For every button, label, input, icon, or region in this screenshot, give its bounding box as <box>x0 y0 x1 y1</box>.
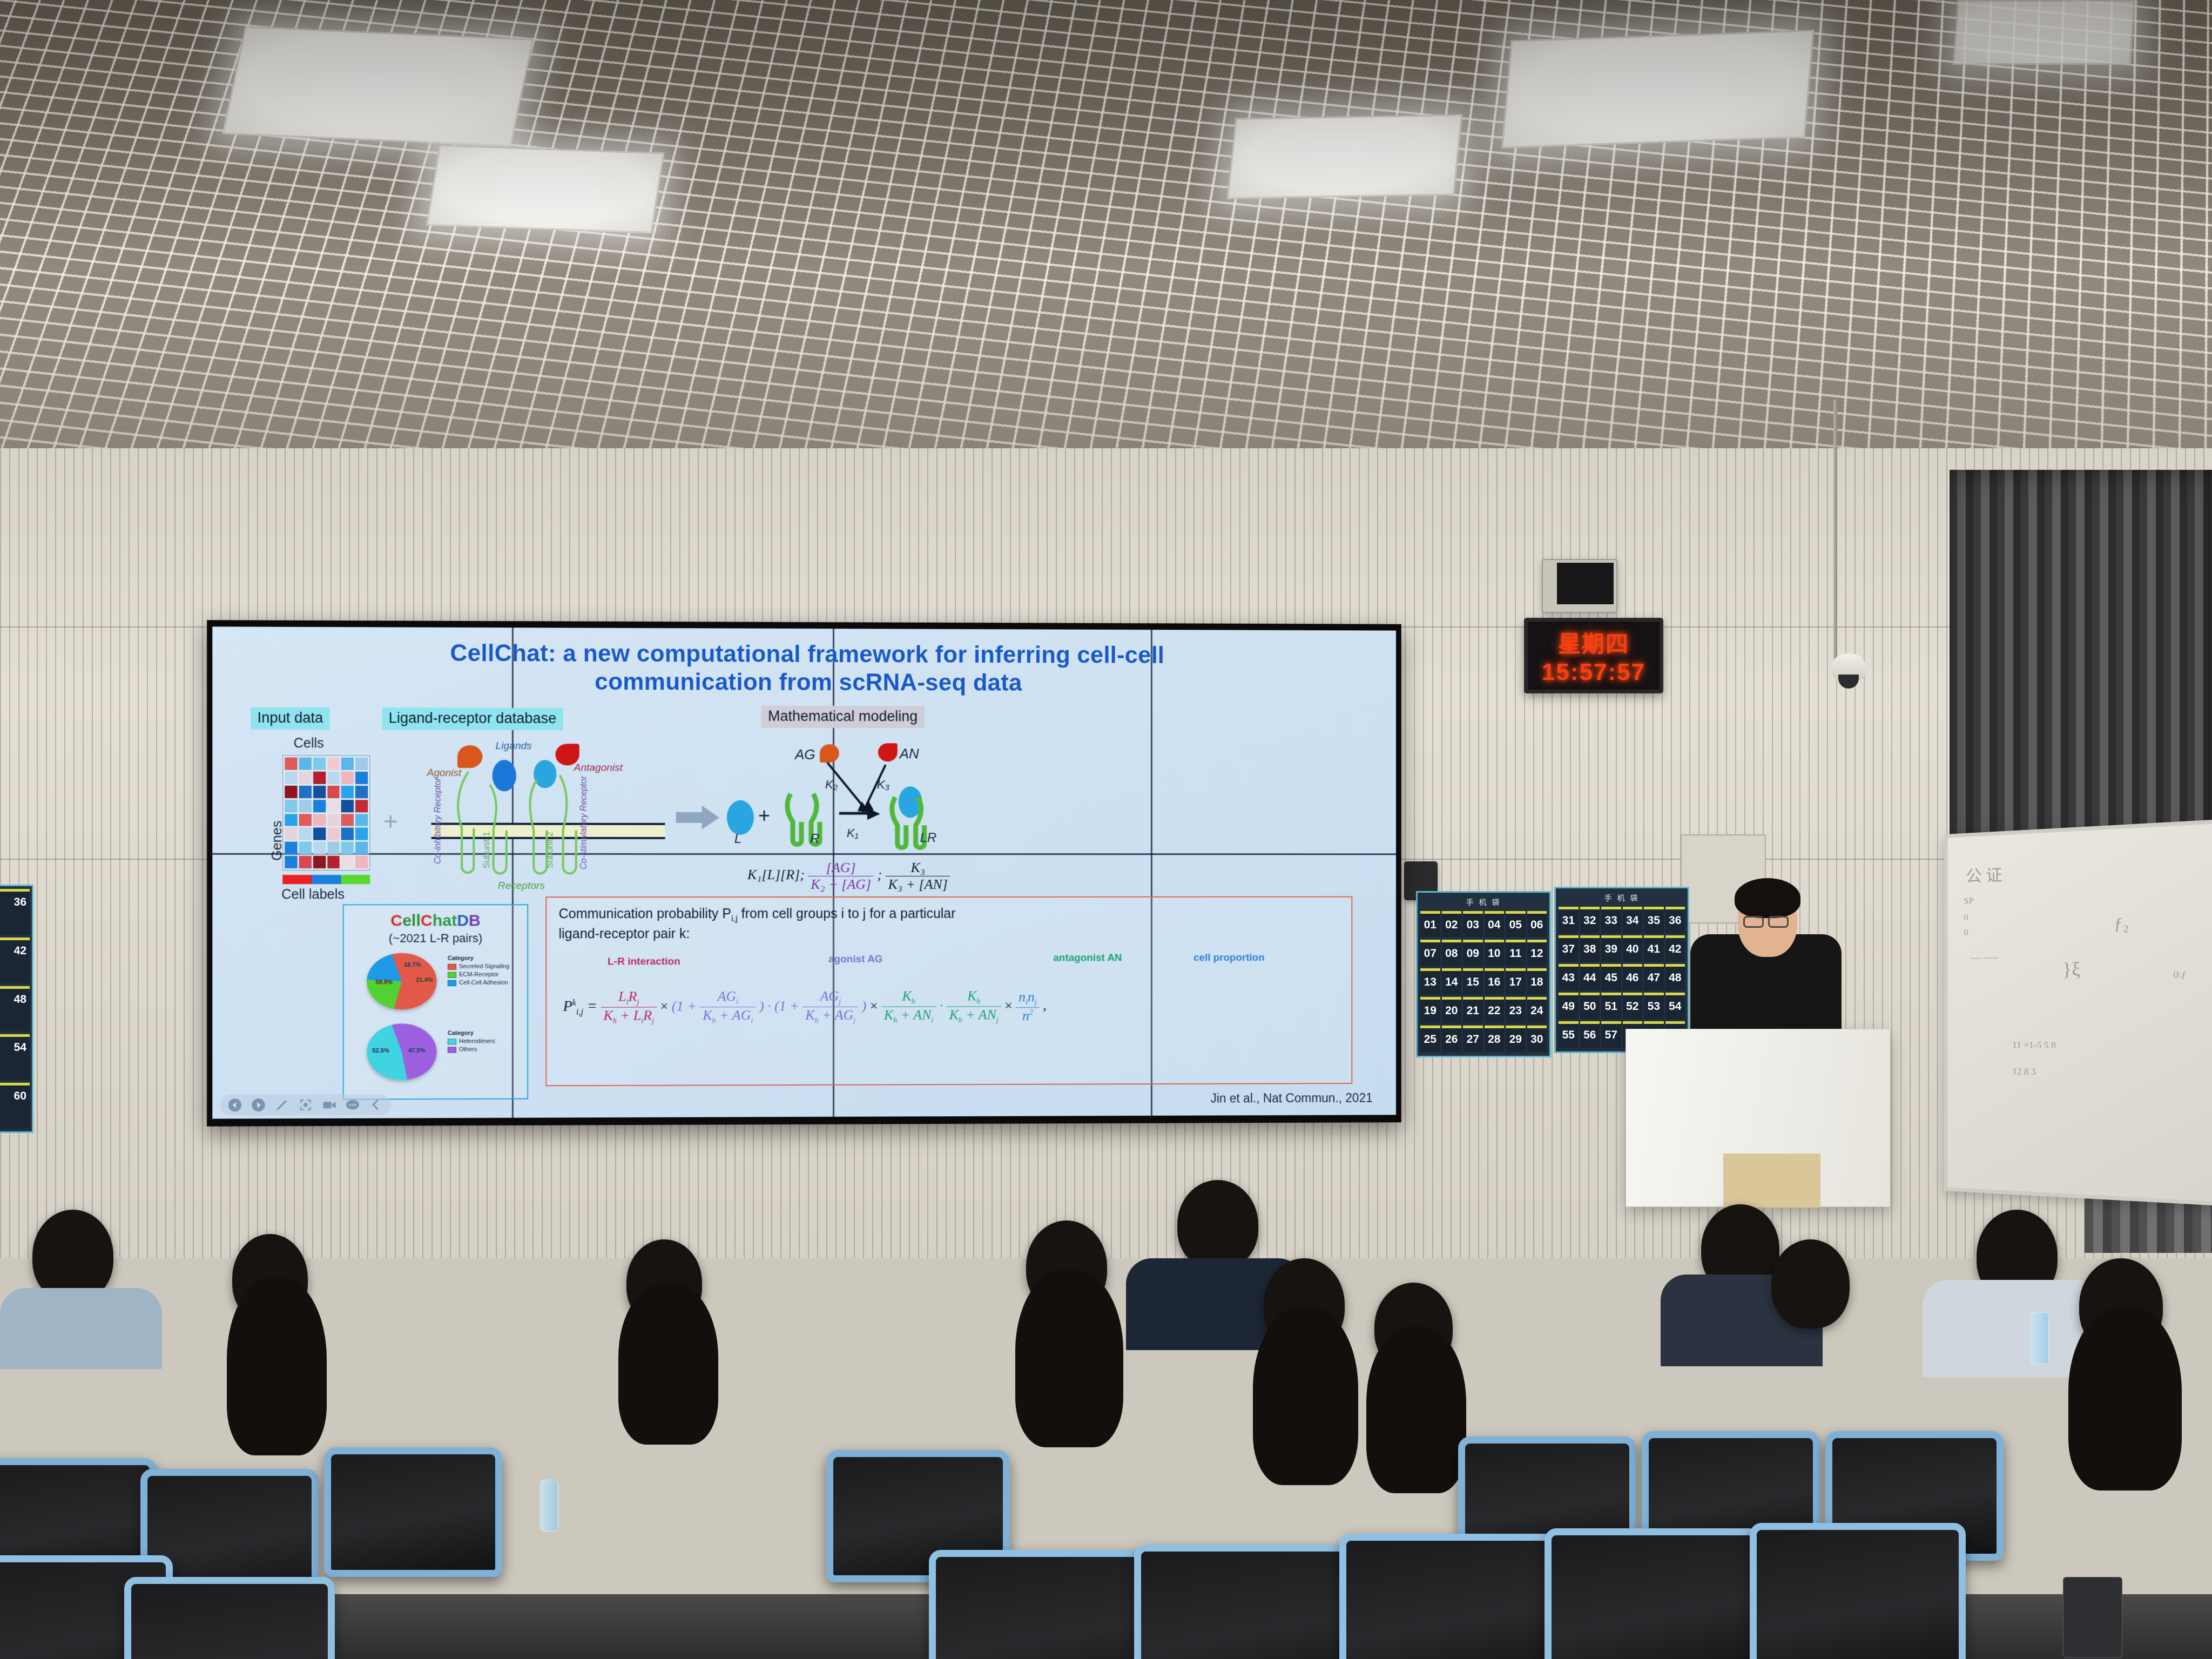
phone-pouch-slot: 25 <box>1420 1026 1440 1052</box>
phone-pouch-board-edge: 3642485460 <box>0 885 33 1133</box>
phone-pouch-slot: 03 <box>1463 911 1483 938</box>
label-receptors: Receptors <box>498 880 545 892</box>
phone-pouch-slot: 42 <box>1665 935 1685 962</box>
heatmap-cell <box>299 772 311 784</box>
heatmap-cell <box>355 814 368 826</box>
phone-pouch-slot: 22 <box>1485 997 1505 1023</box>
cctv-monitor <box>1542 559 1617 613</box>
section-tag-input-data: Input data <box>251 707 329 730</box>
rate-semicolon-1: ; <box>878 867 882 882</box>
heatmap-cell <box>341 800 354 812</box>
lecture-hall-photo: 公 证 SP 0 0 ~~ ~~~ }ξ ƒ₂ 11 ×1-5 5 8 12 8… <box>0 0 2212 1659</box>
label-k1: K₁ <box>847 826 859 840</box>
audience-long-hair <box>1015 1269 1123 1447</box>
phone-pouch-slot: 37 <box>1559 935 1579 962</box>
legend-entry: Secreted Signaling <box>448 963 509 970</box>
slide-title: CellChat: a new computational framework … <box>212 638 1396 698</box>
audience-shoulders <box>0 1288 162 1369</box>
pie1-legend: CategorySecreted SignalingECM-ReceptorCe… <box>448 955 509 986</box>
phone-pouch-slot: 11 <box>1506 940 1526 966</box>
legend-swatch <box>448 972 456 977</box>
heatmap-cell <box>285 800 297 812</box>
phone-pouch-slot: 38 <box>1580 935 1600 962</box>
legend-label: Heterodimers <box>459 1038 495 1044</box>
probability-heading-a: Communication probability P <box>559 906 732 921</box>
legend-swatch <box>448 1038 456 1044</box>
cellchatdb-panel: CellChatDB (~2021 L-R pairs) 59.9% 21.4%… <box>343 904 528 1100</box>
legend-swatch <box>448 963 456 969</box>
seat <box>124 1577 335 1659</box>
legend-label: Secreted Signaling <box>459 963 509 970</box>
phone-pouch-slot: 45 <box>1601 964 1621 990</box>
expression-heatmap <box>282 755 370 871</box>
phone-pouch-slot: 39 <box>1601 935 1621 962</box>
label-co-inhibitory-receptor: Co-inhibitory Receptor <box>434 778 443 864</box>
label-ligands: Ligands <box>496 740 532 752</box>
label-LR: LR <box>920 831 937 846</box>
term-label-antagonist: antagonist AN <box>1053 952 1122 964</box>
audience-area <box>0 1177 2212 1659</box>
heatmap-cell <box>313 814 326 826</box>
cell-label-segment <box>282 875 312 884</box>
heatmap-cell <box>313 842 326 854</box>
phone-pouch-slot: 44 <box>1580 964 1600 990</box>
cctv-monitor-screen <box>1557 563 1614 604</box>
heatmap-cell <box>285 786 297 798</box>
phone-pouch-slot: 32 <box>1580 907 1600 933</box>
phone-pouch-slot: 35 <box>1644 907 1664 933</box>
label-subunit-2: Subunit 2 <box>545 832 555 868</box>
audience-head <box>1177 1180 1258 1269</box>
phone-pouch-slot: 05 <box>1506 911 1526 938</box>
phone-pouch-slot: 09 <box>1463 940 1483 966</box>
phone-pouch-slot: 06 <box>1527 911 1547 938</box>
receptor-LR-icon <box>887 794 946 850</box>
phone-pouch-slot: 54 <box>1665 993 1685 1019</box>
cellchatdb-title: CellChatDB <box>344 912 527 930</box>
phone-pouch-slot: 40 <box>1623 935 1643 962</box>
phone-pouch-slot: 20 <box>1442 997 1462 1023</box>
powerpoint-presenter-toolbar[interactable] <box>220 1094 390 1115</box>
led-clock-time: 15:57:57 <box>1542 659 1645 686</box>
phone-pouch-slot: 13 <box>1420 968 1440 995</box>
cell-label-color-bar <box>282 875 370 884</box>
rate-expr-2-numerator: [AG] <box>808 860 874 876</box>
slide-title-line-1: CellChat: a new computational framework … <box>278 639 1332 670</box>
video-wall-screen: CellChat: a new computational framework … <box>207 620 1401 1127</box>
phone-pouch-slot: 55 <box>1559 1021 1579 1048</box>
seat <box>324 1447 502 1577</box>
phone-pouch-slot: 08 <box>1442 940 1462 966</box>
cellchatdb-subtitle: (~2021 L-R pairs) <box>344 931 527 945</box>
rate-expr-3-denominator: K₃ + [AN] <box>886 876 950 893</box>
math-plus: + <box>758 805 770 828</box>
phone-pouch-slot: 04 <box>1485 911 1505 938</box>
heatmap-cell <box>285 757 297 770</box>
phone-pouch-board-left: 手 机 袋 0102030405060708091011121314151617… <box>1416 891 1551 1057</box>
rate-expr-3-numerator: K₃ <box>886 860 950 876</box>
heatmap-cell <box>299 842 311 854</box>
pie1-label-1: 21.4% <box>416 977 433 983</box>
audience-head <box>1771 1239 1850 1328</box>
laser-pointer-icon[interactable] <box>299 1098 313 1112</box>
heatmap-cell <box>327 842 340 854</box>
heatmap-cell <box>299 856 311 868</box>
seat <box>1750 1523 1966 1659</box>
label-k3: K₃ <box>877 778 889 792</box>
presentation-slide: CellChat: a new computational framework … <box>212 626 1396 1118</box>
phone-pouch-slot: 47 <box>1644 964 1664 990</box>
heatmap-cell <box>285 772 297 784</box>
heatmap-cell <box>299 800 311 812</box>
cell-label-segment <box>312 875 341 884</box>
pie2-label-1: 47.5% <box>408 1048 426 1054</box>
heatmap-cell <box>313 856 326 868</box>
phone-pouch-header: 手 机 袋 <box>1420 896 1547 909</box>
reaction-arrow-icon <box>839 807 884 823</box>
phone-pouch-slot: 42 <box>0 938 30 983</box>
heatmap-cell <box>313 800 326 812</box>
smartphone <box>2063 1577 2122 1658</box>
seat <box>1339 1534 1555 1659</box>
phone-pouch-header: 手 机 袋 <box>1559 892 1685 905</box>
phone-pouch-slot: 01 <box>1420 911 1440 938</box>
heatmap-cell <box>285 856 297 868</box>
phone-pouch-slot: 16 <box>1485 968 1505 995</box>
led-clock: 星期四 15:57:57 <box>1524 618 1663 693</box>
heatmap-cell <box>299 814 311 826</box>
heatmap-cell <box>327 758 340 770</box>
seat <box>1134 1545 1350 1659</box>
legend-swatch <box>448 980 456 986</box>
pen-icon[interactable] <box>275 1098 289 1112</box>
camera-mount-pole <box>1833 400 1837 664</box>
dome-camera-icon <box>1831 653 1866 682</box>
phone-pouch-slot: 50 <box>1580 993 1600 1019</box>
more-options-icon[interactable] <box>346 1098 360 1112</box>
heatmap-cell <box>355 842 368 854</box>
heatmap-cell <box>313 828 326 840</box>
phone-pouch-slot: 48 <box>1665 964 1685 990</box>
probability-equation: Pki,j = LiRj Kh + LiRj × (1 + AGi Kh + A… <box>563 988 1047 1026</box>
phone-pouch-slot: 15 <box>1463 968 1483 995</box>
led-clock-weekday: 星期四 <box>1558 626 1629 659</box>
audience-long-hair <box>2068 1307 2182 1491</box>
heatmap-cell <box>313 772 326 784</box>
heatmap-cell <box>299 786 311 798</box>
heatmap-cell <box>341 828 354 840</box>
heatmap-cell <box>355 856 368 868</box>
heatmap-cell <box>299 828 311 840</box>
heatmap-cell <box>327 786 340 798</box>
probability-heading-line2: ligand-receptor pair k: <box>559 926 690 941</box>
legend-title: Category <box>448 955 509 962</box>
water-bottle <box>540 1480 558 1532</box>
heatmap-cell <box>327 828 340 840</box>
heatmap-cell <box>327 856 340 868</box>
phone-pouch-slot: 31 <box>1559 907 1579 933</box>
legend-entry: Others <box>448 1046 495 1053</box>
ceiling-shading <box>0 0 2212 486</box>
phone-pouch-slot: 07 <box>1420 940 1440 966</box>
term-label-cell-proportion: cell proportion <box>1193 952 1264 964</box>
pie1-label-0: 59.9% <box>375 979 393 986</box>
heatmap-cell <box>285 828 297 840</box>
phone-pouch-slot: 02 <box>1442 911 1462 938</box>
legend-entry: ECM-Receptor <box>448 972 509 978</box>
phone-pouch-slot: 33 <box>1601 907 1621 933</box>
communication-probability-panel: Communication probability Pi,j from cell… <box>545 896 1352 1087</box>
phone-pouch-slot: 36 <box>1665 907 1685 933</box>
label-R: R <box>810 832 819 847</box>
heatmap-cell <box>341 842 354 854</box>
phone-pouch-slot: 12 <box>1527 940 1547 966</box>
seat <box>929 1550 1145 1659</box>
axis-label-cells: Cells <box>293 736 323 751</box>
phone-pouch-slot: 43 <box>1559 964 1579 990</box>
audience-long-hair <box>1253 1307 1358 1485</box>
phone-pouch-slot: 52 <box>1623 993 1643 1019</box>
phone-pouch-slot: 14 <box>1442 968 1462 995</box>
slide-citation: Jin et al., Nat Commun., 2021 <box>1210 1091 1372 1106</box>
heatmap-cell <box>299 758 311 770</box>
phone-pouch-slot: 49 <box>1559 993 1579 1019</box>
ceiling <box>0 0 2212 486</box>
next-slide-icon[interactable] <box>251 1098 265 1112</box>
section-tag-ligand-receptor-database: Ligand-receptor database <box>382 707 563 730</box>
phone-pouch-slot: 23 <box>1506 997 1526 1023</box>
legend-swatch <box>448 1047 456 1053</box>
term-label-lr-interaction: L-R interaction <box>608 956 680 968</box>
legend-label: Others <box>459 1046 477 1053</box>
stage-curtain-top <box>1950 470 2212 848</box>
phone-pouch-slot: 51 <box>1601 993 1621 1019</box>
water-bottle <box>2031 1312 2049 1364</box>
ligand-L-blob <box>727 800 754 835</box>
seat <box>1545 1528 1761 1659</box>
audience-long-hair <box>618 1283 718 1445</box>
probability-heading: Communication probability Pi,j from cell… <box>559 905 956 943</box>
pie2-label-0: 52.5% <box>372 1048 389 1054</box>
phone-pouch-grid: 3132333435363738394041424344454647484950… <box>1559 907 1685 1048</box>
heatmap-cell <box>285 842 297 854</box>
cell-label-segment <box>341 875 370 884</box>
phone-pouch-slot: 53 <box>1644 993 1664 1019</box>
audience-long-hair <box>227 1277 327 1455</box>
audience-long-hair <box>1366 1326 1466 1493</box>
phone-pouch-slot: 21 <box>1463 997 1483 1023</box>
phone-pouch-slot: 36 <box>0 889 30 935</box>
heatmap-cell <box>327 800 340 812</box>
phone-pouch-slot: 57 <box>1601 1021 1621 1048</box>
label-k2: K₂ <box>825 778 838 792</box>
phone-pouch-slot: 24 <box>1527 997 1547 1023</box>
heatmap-cell <box>341 856 354 868</box>
phone-pouch-slot: 19 <box>1420 997 1440 1023</box>
phone-pouch-slot: 30 <box>1527 1026 1547 1052</box>
label-cell-labels: Cell labels <box>281 887 345 902</box>
label-co-stimulatory-receptor: Co-stimulatory Receptor <box>579 776 589 869</box>
pie1-label-2: 18.7% <box>404 962 421 968</box>
rate-expression-1: K₁[L][R]; <box>747 867 805 882</box>
phone-pouch-board-right: 手 机 袋 3132333435363738394041424344454647… <box>1554 887 1689 1053</box>
phone-pouch-slot: 17 <box>1506 968 1526 995</box>
heatmap-cell <box>313 786 326 798</box>
phone-pouch-slot: 26 <box>1442 1026 1462 1052</box>
heatmap-cell <box>355 828 368 840</box>
heatmap-cell <box>313 758 326 770</box>
heatmap-cell <box>341 758 354 770</box>
phone-pouch-slot: 18 <box>1527 968 1547 995</box>
probability-heading-sub: i,j <box>731 914 738 923</box>
presenter-view-icon[interactable] <box>322 1098 336 1112</box>
heatmap-cell <box>341 786 354 798</box>
pie2-legend: CategoryHeterodimersOthers <box>448 1030 495 1053</box>
phone-pouch-slot: 28 <box>1485 1026 1505 1052</box>
phone-pouch-slot: 54 <box>0 1034 30 1080</box>
term-label-agonist: agonist AG <box>828 954 882 966</box>
section-tag-mathematical-modeling: Mathematical modeling <box>761 706 924 729</box>
collapse-icon[interactable] <box>369 1097 383 1111</box>
heatmap-cell <box>327 772 340 784</box>
heatmap-cell <box>341 814 354 826</box>
legend-entry: Heterodimers <box>448 1038 495 1044</box>
phone-pouch-slot: 10 <box>1485 940 1505 966</box>
legend-label: Cell-Cell Adhesion <box>459 980 508 986</box>
legend-title: Category <box>448 1030 495 1036</box>
phone-pouch-slot: 41 <box>1644 935 1664 962</box>
phone-pouch-slot: 34 <box>1623 907 1643 933</box>
label-L: L <box>734 832 741 847</box>
phone-pouch-slot: 60 <box>0 1083 30 1129</box>
heatmap-cell <box>355 800 368 812</box>
phone-pouch-slot: 27 <box>1463 1026 1483 1052</box>
phone-pouch-slot: 29 <box>1506 1026 1526 1052</box>
heatmap-cell <box>327 814 340 826</box>
flow-arrow-icon <box>676 802 720 833</box>
heatmap-cell <box>355 758 368 770</box>
whiteboard: 公 证 SP 0 0 ~~ ~~~ }ξ ƒ₂ 11 ×1-5 5 8 12 8… <box>1944 818 2212 1207</box>
plus-symbol: + <box>383 806 398 835</box>
phone-pouch-slot: 46 <box>1623 964 1643 990</box>
previous-slide-icon[interactable] <box>228 1098 242 1112</box>
legend-entry: Cell-Cell Adhesion <box>448 980 509 986</box>
legend-label: ECM-Receptor <box>459 972 498 978</box>
slide-title-line-2: communication from scRNA-seq data <box>278 667 1332 698</box>
heatmap-cell <box>355 786 368 798</box>
phone-pouch-grid: 0102030405060708091011121314151617181920… <box>1420 911 1547 1052</box>
label-subunit-1: Subunit 1 <box>482 832 492 868</box>
phone-pouch-slot: 56 <box>1580 1021 1600 1048</box>
heatmap-cell <box>285 814 297 826</box>
phone-pouch-slot: 48 <box>0 986 30 1032</box>
rate-expr-2-denominator: K₂ + [AG] <box>808 876 874 893</box>
probability-heading-b: from cell groups i to j for a particular <box>738 906 956 921</box>
heatmap-cell <box>341 772 354 784</box>
heatmap-cell <box>355 772 368 784</box>
